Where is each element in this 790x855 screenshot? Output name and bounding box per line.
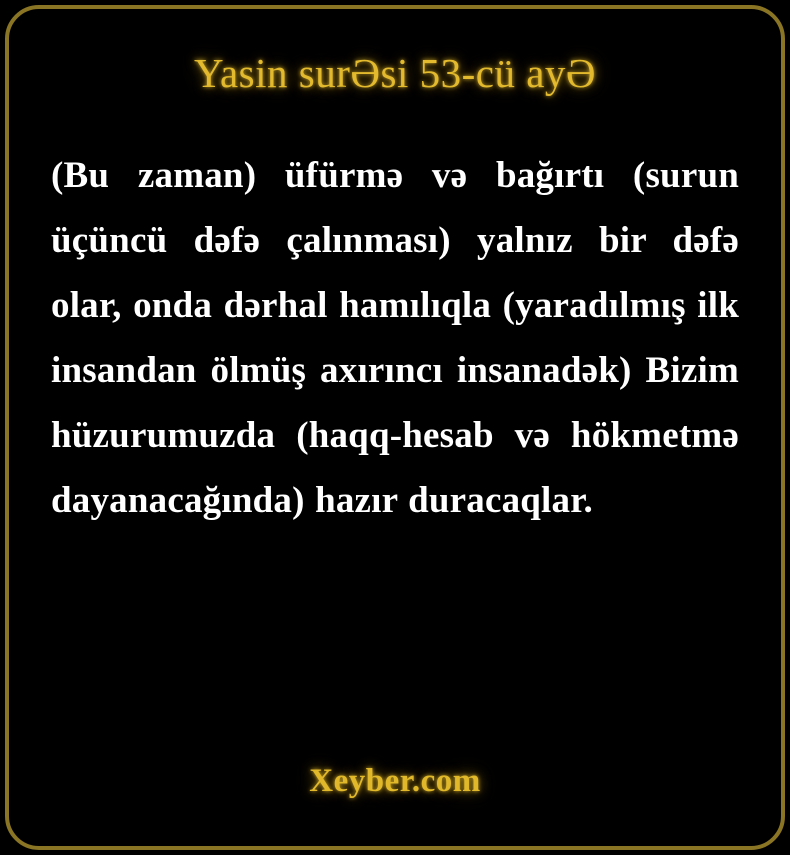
site-watermark: Xeyber.com xyxy=(9,763,781,846)
content-spacer xyxy=(9,533,781,763)
verse-body-text: (Bu zaman) üfürmə və bağırtı (surun üçün… xyxy=(9,97,781,533)
page-title: Yasin surƏsi 53-cü ayƏ xyxy=(9,9,781,97)
verse-card: Yasin surƏsi 53-cü ayƏ (Bu zaman) üfürmə… xyxy=(5,5,785,850)
card-content: Yasin surƏsi 53-cü ayƏ (Bu zaman) üfürmə… xyxy=(9,9,781,846)
